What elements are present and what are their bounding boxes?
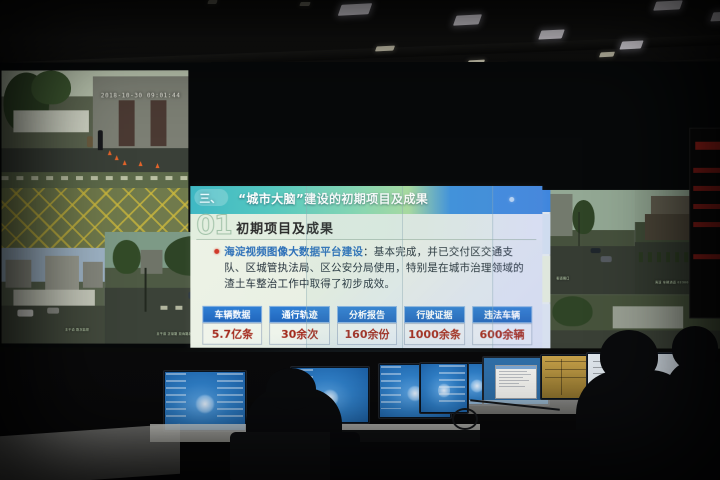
ceiling-light <box>653 0 683 10</box>
foreground-shadow <box>330 430 590 480</box>
ceiling-light <box>538 29 565 39</box>
operator-right-a-head <box>600 330 658 382</box>
caption-left-lower: 主干道 路况监控 <box>65 328 89 332</box>
ceiling-light <box>710 12 720 22</box>
ceiling-light <box>375 46 395 52</box>
ceiling-light <box>338 3 372 16</box>
slide-big-number: 01 <box>196 212 231 239</box>
headset-icon[interactable] <box>452 408 478 430</box>
camera-timestamp: 2018-10-30 09:01:44 <box>101 92 181 99</box>
stat-label: 车辆数据 <box>202 306 262 323</box>
ceiling-light <box>299 2 310 6</box>
operator-right-b <box>666 360 720 480</box>
operator-left-head <box>266 368 316 410</box>
ceiling-light <box>599 52 615 58</box>
monitor-4[interactable] <box>419 362 469 414</box>
tile-street-wide-cam[interactable]: 主干道 路况监控 <box>2 248 105 344</box>
ceiling-light <box>619 40 643 49</box>
monitor-1[interactable] <box>163 370 247 432</box>
tile-notice-panel[interactable] <box>689 128 720 319</box>
video-wall: 2018-10-30 09:01:44 主干道 路况监控 <box>0 61 720 352</box>
tile-gate-guard-cam[interactable]: 2018-10-30 09:01:44 <box>2 70 189 188</box>
ceiling-light <box>453 14 482 25</box>
operator-right-b-head <box>672 326 718 370</box>
bullet-dot-icon <box>214 249 219 254</box>
control-room-scene: 2018-10-30 09:01:44 主干道 路况监控 <box>0 0 720 480</box>
guard-figure <box>98 130 103 150</box>
tile-avenue-cam[interactable]: 街道路口 <box>548 190 634 294</box>
ceiling-light <box>207 0 217 4</box>
caption-right-street: 街道路口 <box>556 276 569 280</box>
section-marker: 三、 <box>199 190 221 206</box>
